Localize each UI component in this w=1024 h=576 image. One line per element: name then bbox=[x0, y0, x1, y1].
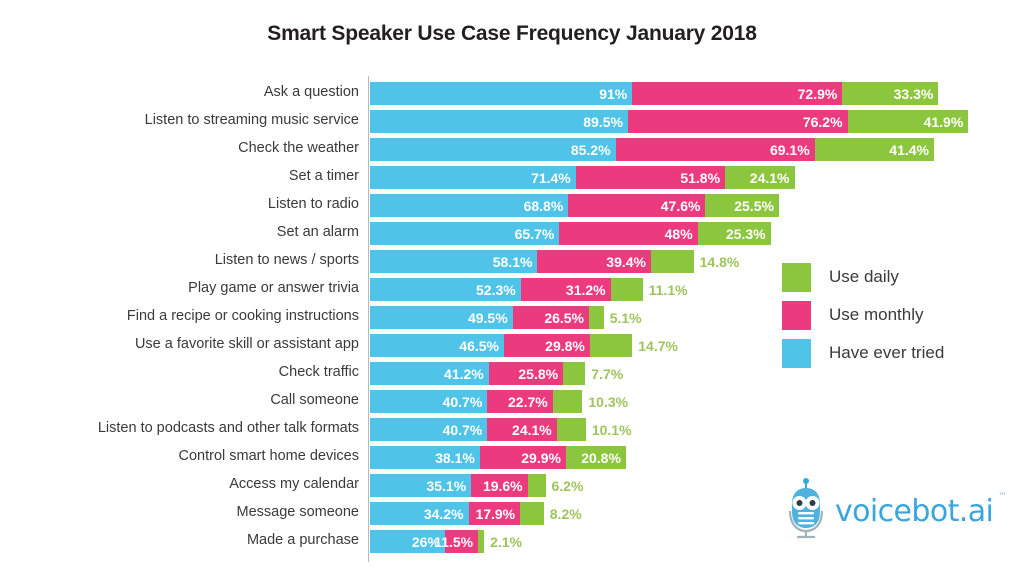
bar-value-label: 10.1% bbox=[592, 419, 632, 441]
bar-segment[interactable]: 89.5% bbox=[370, 110, 628, 133]
bar-segment[interactable]: 38.1% bbox=[370, 446, 480, 469]
bar-segment[interactable]: 26.5% bbox=[513, 306, 589, 329]
bar-segment[interactable]: 14.7% bbox=[590, 334, 632, 357]
robot-microphone-icon bbox=[783, 478, 829, 545]
bar-segment[interactable]: 31.2% bbox=[521, 278, 611, 301]
bar-value-label: 11.1% bbox=[649, 279, 688, 301]
bar-value-label: 29.9% bbox=[521, 447, 561, 469]
bar-segment[interactable]: 10.1% bbox=[557, 418, 586, 441]
bar-segment[interactable]: 6.2% bbox=[528, 474, 546, 497]
bar-segment[interactable]: 65.7% bbox=[370, 222, 559, 245]
bar-value-label: 49.5% bbox=[468, 307, 508, 329]
bar-value-label: 38.1% bbox=[435, 447, 475, 469]
bar-segment[interactable]: 25.5% bbox=[705, 194, 778, 217]
bar-segment[interactable]: 29.9% bbox=[480, 446, 566, 469]
chart-row: Control smart home devices38.1%29.9%20.8… bbox=[0, 444, 1024, 472]
bar-segment[interactable]: 85.2% bbox=[370, 138, 616, 161]
bar-value-label: 91% bbox=[599, 83, 627, 105]
bar-value-label: 25.5% bbox=[734, 195, 774, 217]
bar-value-label: 14.8% bbox=[700, 251, 740, 273]
bar-value-label: 6.2% bbox=[552, 475, 584, 497]
category-label: Ask a question bbox=[39, 83, 359, 102]
bar-segment[interactable]: 24.1% bbox=[725, 166, 794, 189]
bar-value-label: 10.3% bbox=[588, 391, 628, 413]
bar-value-label: 17.9% bbox=[475, 503, 515, 525]
bar-segment[interactable]: 34.2% bbox=[370, 502, 469, 525]
bar-value-label: 58.1% bbox=[493, 251, 533, 273]
legend-item[interactable]: Have ever tried bbox=[782, 334, 1012, 372]
bar-segment[interactable]: 29.8% bbox=[504, 334, 590, 357]
bar-value-label: 35.1% bbox=[426, 475, 466, 497]
bar-value-label: 29.8% bbox=[545, 335, 585, 357]
bar-value-label: 65.7% bbox=[515, 223, 555, 245]
bar-segment[interactable]: 10.3% bbox=[553, 390, 583, 413]
category-label: Access my calendar bbox=[39, 475, 359, 494]
legend-item[interactable]: Use daily bbox=[782, 258, 1012, 296]
bar-segment[interactable]: 91% bbox=[370, 82, 632, 105]
bar-segment[interactable]: 11.5% bbox=[445, 530, 478, 553]
bar-value-label: 33.3% bbox=[894, 83, 934, 105]
chart-row: Ask a question91%72.9%33.3% bbox=[0, 80, 1024, 108]
chart-container: Smart Speaker Use Case Frequency January… bbox=[0, 0, 1024, 576]
legend-item[interactable]: Use monthly bbox=[782, 296, 1012, 334]
bar-segment[interactable]: 11.1% bbox=[611, 278, 643, 301]
bar-segment[interactable]: 39.4% bbox=[537, 250, 651, 273]
bar-segment[interactable]: 41.2% bbox=[370, 362, 489, 385]
chart-row: Set a timer71.4%51.8%24.1% bbox=[0, 164, 1024, 192]
bar-segment[interactable]: 40.7% bbox=[370, 418, 487, 441]
bar-segment[interactable]: 40.7% bbox=[370, 390, 487, 413]
bar-segment[interactable]: 14.8% bbox=[651, 250, 694, 273]
legend-swatch bbox=[782, 301, 811, 330]
chart-row: Call someone40.7%22.7%10.3% bbox=[0, 388, 1024, 416]
bar-segment[interactable]: 25.3% bbox=[698, 222, 771, 245]
bar-segment[interactable]: 41.4% bbox=[815, 138, 934, 161]
category-label: Listen to radio bbox=[39, 195, 359, 214]
bar-value-label: 7.7% bbox=[591, 363, 623, 385]
bar-value-label: 22.7% bbox=[508, 391, 548, 413]
bar-value-label: 48% bbox=[665, 223, 693, 245]
chart-row: Check the weather85.2%69.1%41.4% bbox=[0, 136, 1024, 164]
logo-wordmark: voicebot.ai ™ bbox=[835, 494, 993, 529]
bar-value-label: 26.5% bbox=[544, 307, 584, 329]
bar-segment[interactable]: 52.3% bbox=[370, 278, 521, 301]
bar-value-label: 19.6% bbox=[483, 475, 523, 497]
bar-value-label: 2.1% bbox=[490, 531, 522, 553]
legend-label: Use monthly bbox=[829, 305, 923, 325]
voicebot-logo: voicebot.ai ™ bbox=[783, 478, 993, 545]
logo-trademark: ™ bbox=[998, 492, 1006, 502]
category-label: Listen to news / sports bbox=[39, 251, 359, 270]
bar-value-label: 85.2% bbox=[571, 139, 611, 161]
category-label: Call someone bbox=[39, 391, 359, 410]
bar-value-label: 39.4% bbox=[606, 251, 646, 273]
bar-value-label: 47.6% bbox=[661, 195, 701, 217]
bar-segment[interactable]: 51.8% bbox=[576, 166, 725, 189]
bar-segment[interactable]: 48% bbox=[559, 222, 697, 245]
bar-segment[interactable]: 7.7% bbox=[563, 362, 585, 385]
bar-segment[interactable]: 58.1% bbox=[370, 250, 537, 273]
logo-wordmark-text: voicebot.ai bbox=[835, 494, 993, 529]
bar-value-label: 41.9% bbox=[924, 111, 964, 133]
bar-value-label: 34.2% bbox=[424, 503, 464, 525]
bar-value-label: 71.4% bbox=[531, 167, 571, 189]
bar-segment[interactable]: 19.6% bbox=[471, 474, 527, 497]
bar-value-label: 76.2% bbox=[803, 111, 843, 133]
chart-row: Listen to streaming music service89.5%76… bbox=[0, 108, 1024, 136]
bar-value-label: 40.7% bbox=[443, 391, 483, 413]
bar-value-label: 41.4% bbox=[889, 139, 929, 161]
bar-value-label: 25.8% bbox=[518, 363, 558, 385]
bar-segment[interactable]: 68.8% bbox=[370, 194, 568, 217]
bar-value-label: 14.7% bbox=[638, 335, 678, 357]
legend-swatch bbox=[782, 339, 811, 368]
bar-value-label: 31.2% bbox=[566, 279, 606, 301]
category-label: Check the weather bbox=[39, 139, 359, 158]
legend-swatch bbox=[782, 263, 811, 292]
legend-label: Use daily bbox=[829, 267, 899, 287]
bar-segment[interactable]: 24.1% bbox=[487, 418, 556, 441]
bar-segment[interactable]: 5.1% bbox=[589, 306, 604, 329]
category-label: Control smart home devices bbox=[39, 447, 359, 466]
bar-segment[interactable]: 41.9% bbox=[848, 110, 969, 133]
bar-value-label: 40.7% bbox=[443, 419, 483, 441]
bar-segment[interactable]: 69.1% bbox=[616, 138, 815, 161]
chart-legend: Use dailyUse monthlyHave ever tried bbox=[782, 258, 1012, 372]
bar-segment[interactable]: 46.5% bbox=[370, 334, 504, 357]
chart-row: Listen to radio68.8%47.6%25.5% bbox=[0, 192, 1024, 220]
bar-segment[interactable]: 72.9% bbox=[632, 82, 842, 105]
bar-segment[interactable]: 35.1% bbox=[370, 474, 471, 497]
category-label: Check traffic bbox=[39, 363, 359, 382]
bar-segment[interactable]: 71.4% bbox=[370, 166, 576, 189]
bar-value-label: 69.1% bbox=[770, 139, 810, 161]
bar-value-label: 11.5% bbox=[434, 531, 473, 553]
bar-segment[interactable]: 20.8% bbox=[566, 446, 626, 469]
bar-value-label: 25.3% bbox=[726, 223, 766, 245]
chart-row: Set an alarm65.7%48%25.3% bbox=[0, 220, 1024, 248]
bar-value-label: 51.8% bbox=[680, 167, 720, 189]
category-label: Made a purchase bbox=[39, 531, 359, 550]
bar-segment[interactable]: 17.9% bbox=[469, 502, 521, 525]
bar-value-label: 52.3% bbox=[476, 279, 516, 301]
bar-value-label: 41.2% bbox=[444, 363, 484, 385]
bar-value-label: 72.9% bbox=[798, 83, 838, 105]
bar-segment[interactable]: 22.7% bbox=[487, 390, 552, 413]
bar-segment[interactable]: 47.6% bbox=[568, 194, 705, 217]
bar-segment[interactable]: 25.8% bbox=[489, 362, 563, 385]
category-label: Find a recipe or cooking instructions bbox=[39, 307, 359, 326]
bar-segment[interactable]: 8.2% bbox=[520, 502, 544, 525]
bar-value-label: 46.5% bbox=[459, 335, 499, 357]
bar-segment[interactable]: 49.5% bbox=[370, 306, 513, 329]
category-label: Use a favorite skill or assistant app bbox=[39, 335, 359, 354]
bar-value-label: 24.1% bbox=[750, 167, 790, 189]
bar-value-label: 89.5% bbox=[583, 111, 623, 133]
legend-label: Have ever tried bbox=[829, 343, 944, 363]
bar-value-label: 20.8% bbox=[581, 447, 621, 469]
bar-segment[interactable]: 33.3% bbox=[842, 82, 938, 105]
category-label: Play game or answer trivia bbox=[39, 279, 359, 298]
category-label: Set a timer bbox=[39, 167, 359, 186]
bar-value-label: 5.1% bbox=[610, 307, 642, 329]
category-label: Set an alarm bbox=[39, 223, 359, 242]
category-label: Listen to podcasts and other talk format… bbox=[39, 419, 359, 438]
bar-segment[interactable]: 76.2% bbox=[628, 110, 848, 133]
bar-value-label: 68.8% bbox=[524, 195, 564, 217]
category-label: Message someone bbox=[39, 503, 359, 522]
chart-row: Listen to podcasts and other talk format… bbox=[0, 416, 1024, 444]
bar-value-label: 24.1% bbox=[512, 419, 552, 441]
bar-segment[interactable]: 2.1% bbox=[478, 530, 484, 553]
category-label: Listen to streaming music service bbox=[39, 111, 359, 130]
bar-value-label: 8.2% bbox=[550, 503, 582, 525]
chart-title: Smart Speaker Use Case Frequency January… bbox=[0, 22, 1024, 46]
